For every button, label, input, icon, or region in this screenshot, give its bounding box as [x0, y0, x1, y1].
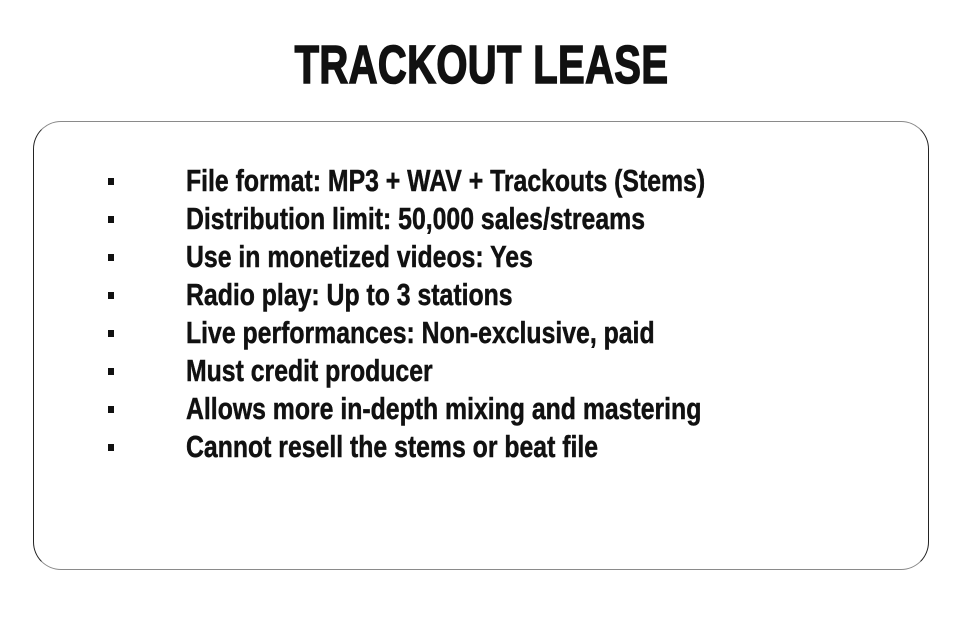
square-bullet-icon — [108, 254, 114, 261]
license-terms-card: File format: MP3 + WAV + Trackouts (Stem… — [33, 121, 929, 570]
list-item: Cannot resell the stems or beat file — [34, 428, 928, 466]
square-bullet-icon — [108, 216, 114, 223]
list-item-label: File format: MP3 + WAV + Trackouts (Stem… — [186, 162, 705, 200]
list-item: Live performances: Non-exclusive, paid — [34, 314, 928, 352]
list-item: Radio play: Up to 3 stations — [34, 276, 928, 314]
license-terms-list: File format: MP3 + WAV + Trackouts (Stem… — [34, 162, 928, 466]
list-item-label: Must credit producer — [186, 352, 433, 390]
square-bullet-icon — [108, 178, 114, 185]
slide-root: { "slide": { "title": "TRACKOUT LEASE", … — [0, 0, 963, 617]
list-item-label: Use in monetized videos: Yes — [186, 238, 533, 276]
list-item: Distribution limit: 50,000 sales/streams — [34, 200, 928, 238]
list-item: Use in monetized videos: Yes — [34, 238, 928, 276]
list-item-label: Cannot resell the stems or beat file — [186, 428, 598, 466]
page-title: TRACKOUT LEASE — [0, 38, 963, 92]
square-bullet-icon — [108, 444, 114, 451]
list-item: Allows more in-depth mixing and masterin… — [34, 390, 928, 428]
square-bullet-icon — [108, 330, 114, 337]
list-item-label: Allows more in-depth mixing and masterin… — [186, 390, 701, 428]
list-item-label: Radio play: Up to 3 stations — [186, 276, 513, 314]
list-item: File format: MP3 + WAV + Trackouts (Stem… — [34, 162, 928, 200]
page-title-text: TRACKOUT LEASE — [295, 38, 669, 92]
square-bullet-icon — [108, 368, 114, 375]
square-bullet-icon — [108, 406, 114, 413]
list-item-label: Distribution limit: 50,000 sales/streams — [186, 200, 645, 238]
list-item-label: Live performances: Non-exclusive, paid — [186, 314, 655, 352]
square-bullet-icon — [108, 292, 114, 299]
list-item: Must credit producer — [34, 352, 928, 390]
